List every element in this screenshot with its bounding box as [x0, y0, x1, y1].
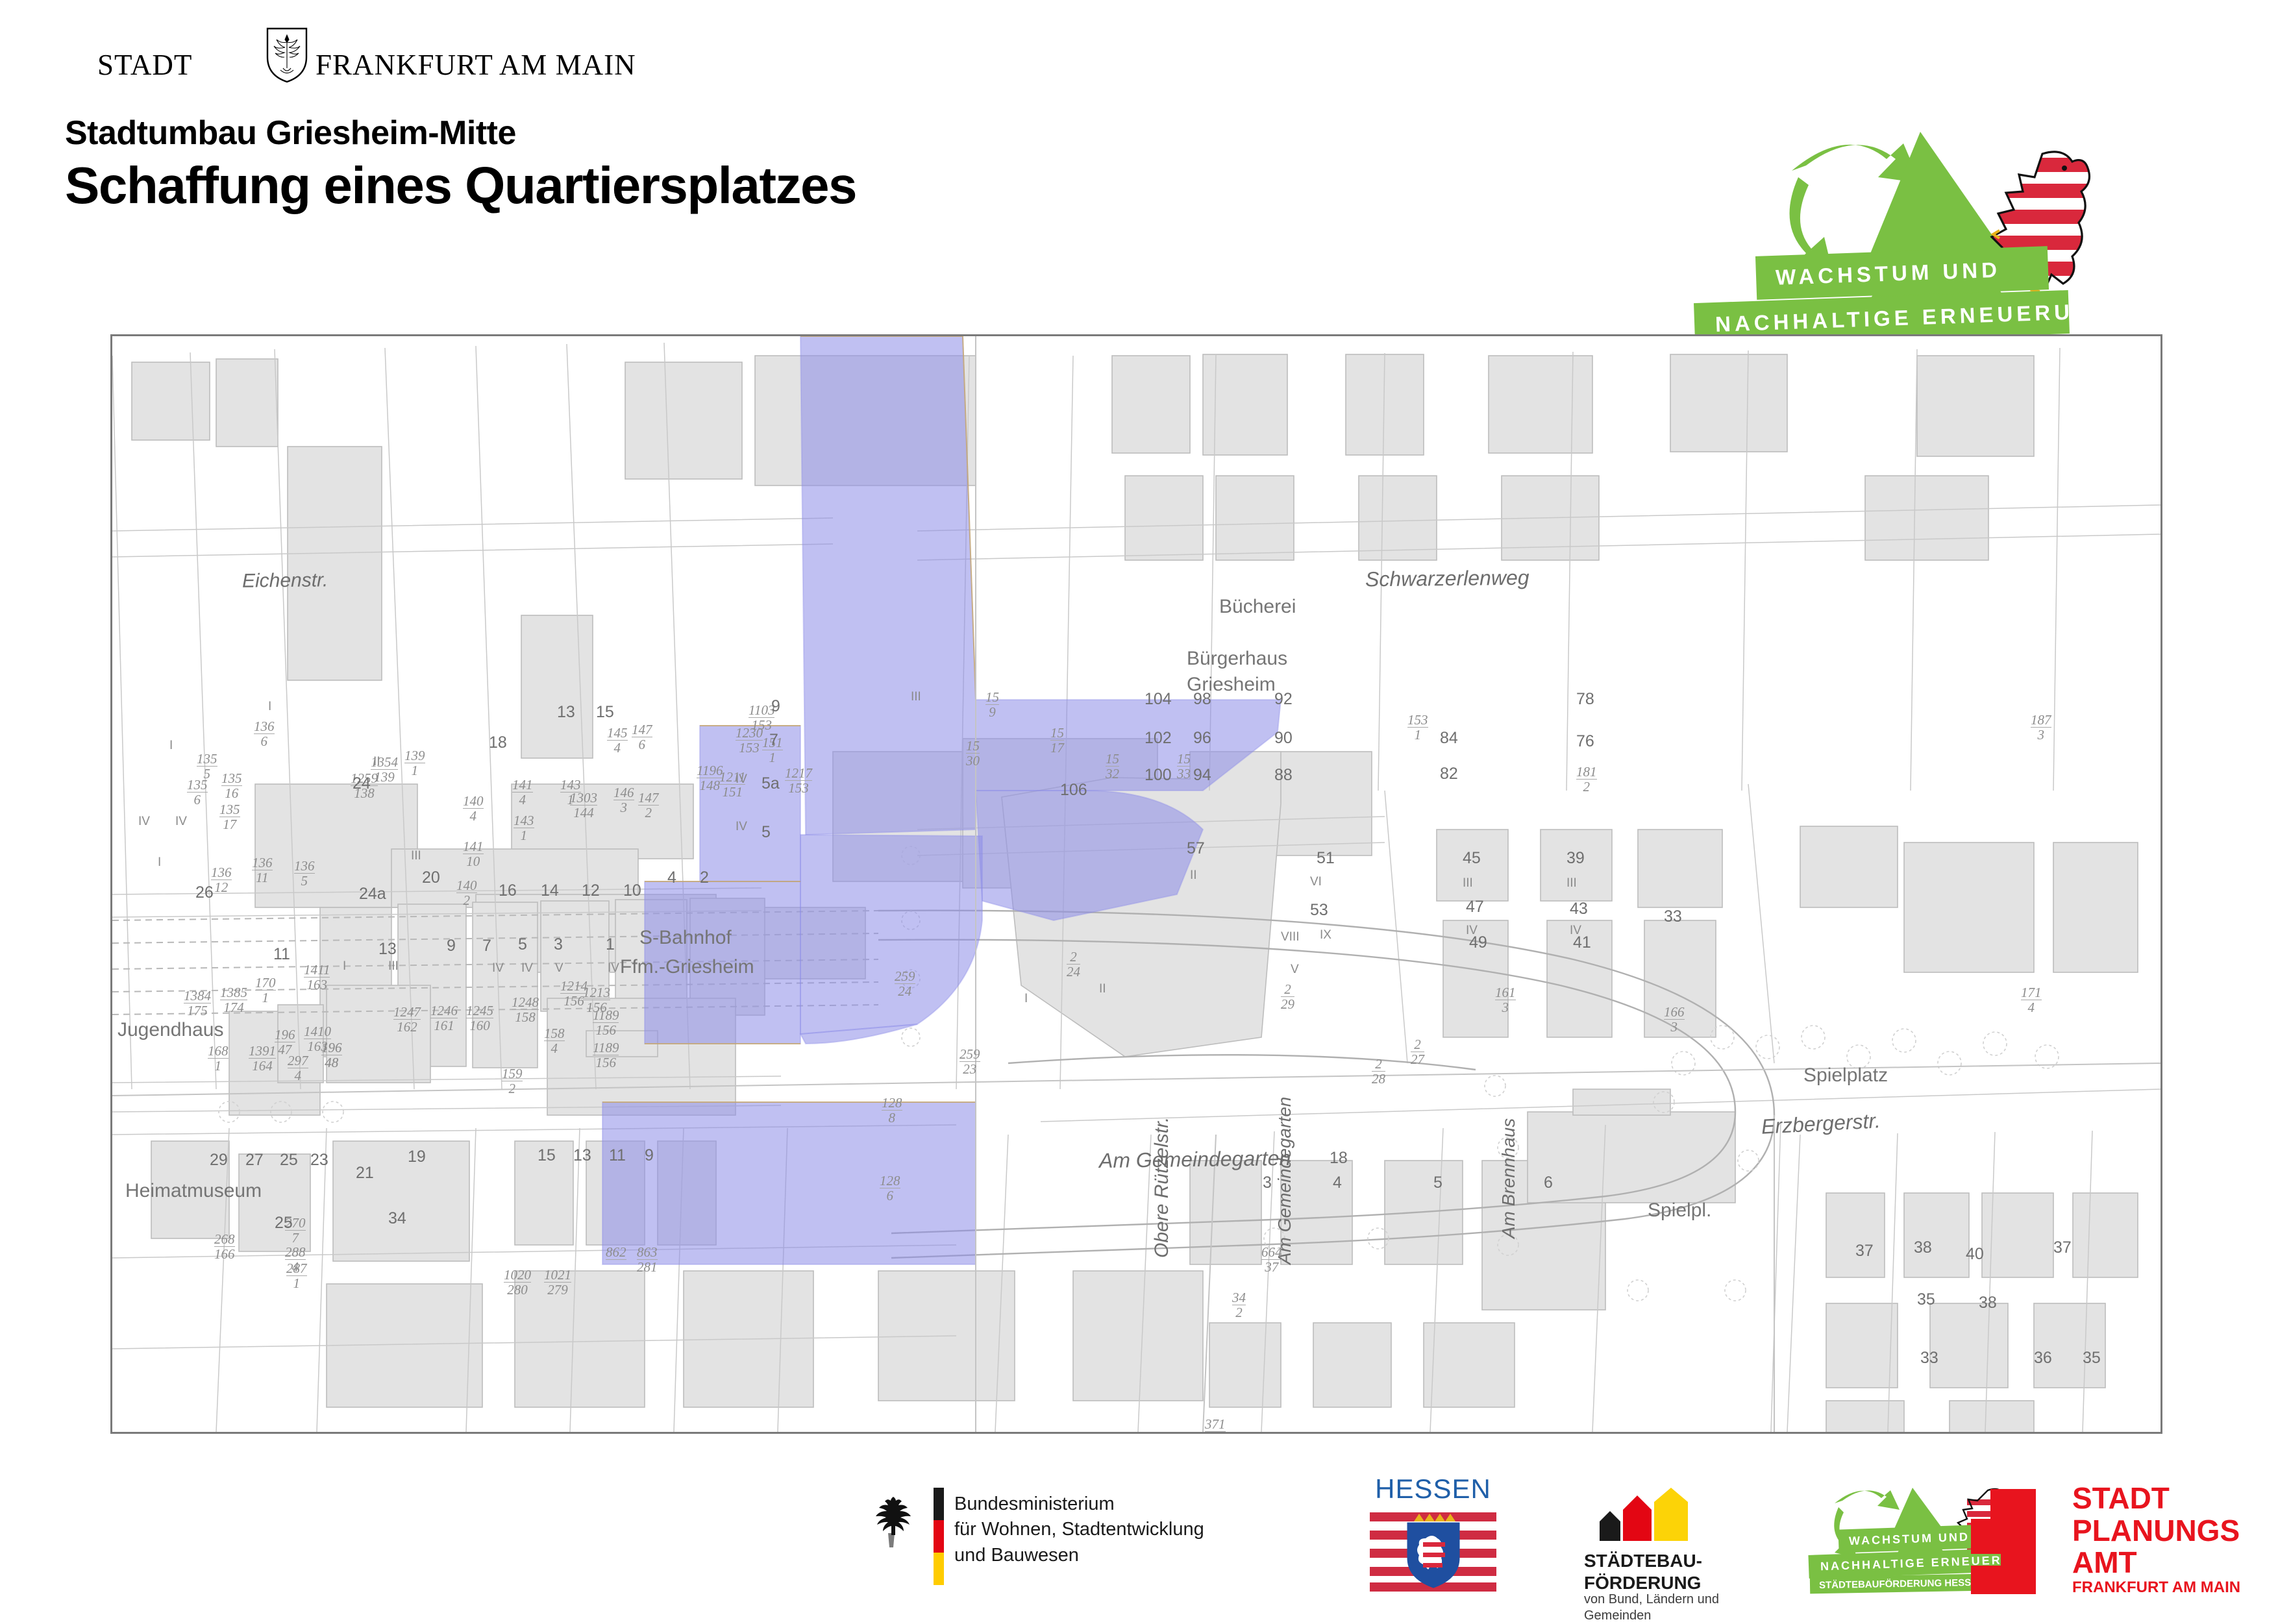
parcel-number: 13612	[211, 865, 232, 894]
storey-level: I	[1024, 992, 1028, 1006]
house-number: 5a	[761, 774, 780, 793]
parcel-number: 1873	[2031, 713, 2051, 742]
house-number: 47	[1466, 898, 1484, 917]
parcel-number: 1663	[1664, 1005, 1685, 1034]
parcel-number: 862	[606, 1245, 626, 1260]
parcel-number: 8836	[1240, 1430, 1261, 1434]
storey-level: I	[268, 700, 271, 714]
house-number: 4	[667, 868, 676, 887]
house-number: 53	[1310, 901, 1328, 920]
parcel-number: 1463	[613, 785, 634, 815]
house-number: 40	[1966, 1245, 1984, 1264]
storey-level: III	[911, 690, 921, 704]
house-number: 14	[541, 881, 559, 900]
storey-level: IV	[1570, 924, 1581, 938]
storey-level: IV	[492, 961, 504, 976]
parcel-number: 13611	[252, 855, 273, 885]
parcel-number: 1214156	[560, 979, 588, 1008]
house-number: 24a	[359, 885, 386, 904]
parcel-number: 1384175	[184, 989, 211, 1018]
house-number: 98	[1193, 690, 1211, 709]
house-number: 34	[388, 1209, 406, 1228]
house-number: 94	[1193, 766, 1211, 785]
house-number: 90	[1274, 729, 1293, 748]
storey-level: III	[1463, 876, 1473, 891]
parcel-number: 863281	[637, 1245, 658, 1274]
parcel-number: 1248158	[512, 995, 539, 1024]
hessen-label: HESSEN	[1370, 1473, 1496, 1505]
parcel-number: 1021279	[544, 1268, 571, 1297]
house-number: 27	[245, 1151, 264, 1170]
house-number: 29	[210, 1151, 228, 1170]
city-logo: STADT FRANKFURT AM MAIN	[97, 34, 513, 86]
parcel-number: 2974	[288, 1053, 308, 1083]
house-number: 11	[273, 945, 290, 964]
storey-level: V	[555, 961, 563, 976]
house-number: 37	[2053, 1238, 2072, 1257]
parcel-number: 1245160	[466, 1003, 493, 1033]
stadtplanung-line3: AMT	[2072, 1547, 2240, 1579]
house-number: 2	[700, 868, 709, 887]
parcel-number: 25923	[959, 1047, 980, 1076]
parcel-number: 1288	[882, 1096, 902, 1125]
parcel-number: 1246161	[430, 1003, 458, 1033]
house-number: 33	[1664, 907, 1682, 926]
storey-level: IV	[736, 772, 747, 787]
parcel-number: 1356	[187, 778, 208, 807]
project-subtitle: Stadtumbau Griesheim-Mitte	[65, 114, 516, 153]
parcel-number: 13516	[221, 771, 242, 800]
house-number: 13	[557, 703, 575, 722]
stadtplanung-line1: STADT	[2072, 1483, 2240, 1515]
house-number: 3	[554, 935, 563, 954]
house-number: 36	[2034, 1349, 2052, 1368]
storey-level: III	[388, 959, 399, 974]
house-number: 6	[1544, 1174, 1553, 1192]
house-number: 33	[1920, 1349, 1938, 1368]
parcel-number: 268166	[214, 1232, 235, 1261]
house-number: 26	[195, 883, 214, 902]
parcel-number: 159	[985, 690, 999, 719]
staedtebau-line2: FÖRDERUNG	[1584, 1572, 1702, 1594]
house-number: 104	[1145, 690, 1172, 709]
stadtplanungsamt-mark-icon	[1954, 1486, 2051, 1597]
house-number: 12	[582, 881, 600, 900]
city-logo-stadt: STADT	[97, 48, 192, 82]
storey-level: II	[373, 755, 380, 769]
house-number: 106	[1060, 781, 1087, 800]
house-number: 25	[275, 1214, 293, 1233]
storey-level: I	[158, 855, 161, 870]
parcel-number: 1230153	[736, 726, 763, 755]
house-number: 57	[1187, 839, 1205, 858]
parcel-number: 1533	[1177, 752, 1191, 781]
parcel-number: 13517	[219, 802, 240, 831]
house-number: 43	[1570, 900, 1588, 918]
parcel-number: 1476	[632, 722, 652, 752]
frankfurt-eagle-crest-icon	[266, 27, 308, 83]
bmwsb-line2: für Wohnen, Stadtentwicklung	[954, 1517, 1204, 1542]
storey-level: IV	[1466, 924, 1478, 938]
parcel-number: 14110	[463, 839, 484, 868]
parcel-number: 1584	[544, 1026, 565, 1055]
house-number: 23	[310, 1151, 328, 1170]
house-number: 38	[1979, 1294, 1997, 1312]
hessen-state-logo: HESSEN	[1370, 1473, 1496, 1592]
storey-level: IV	[175, 815, 187, 829]
storey-level: IV	[521, 961, 533, 976]
house-number: 7	[769, 731, 778, 750]
parcel-number: 1530	[966, 739, 980, 768]
three-houses-icon	[1597, 1488, 1694, 1543]
storey-level: IX	[1320, 928, 1331, 942]
storey-level: VIII	[1281, 930, 1300, 944]
parcel-number: 1532	[1106, 752, 1119, 781]
parcel-number: 1366	[254, 719, 275, 748]
house-number: 35	[1917, 1290, 1935, 1309]
house-number: 45	[1463, 849, 1481, 868]
parcel-number: 1411163	[304, 963, 330, 992]
parcel-number: 1391164	[249, 1044, 276, 1073]
parcel-number: 1592	[502, 1066, 523, 1096]
parcel-number: 66437	[1261, 1245, 1282, 1274]
parcel-number: 227	[1411, 1037, 1424, 1066]
parcel-number: 1286	[880, 1174, 900, 1203]
parcel-number: 2871	[286, 1261, 307, 1290]
parcel-number: 1196148	[697, 763, 723, 793]
stadtplanung-sub: FRANKFURT AM MAIN	[2072, 1579, 2240, 1597]
footer-logos: Bundesministerium für Wohnen, Stadtentwi…	[0, 1468, 2278, 1610]
parcel-number: 1020280	[504, 1268, 531, 1297]
house-number: 21	[356, 1164, 374, 1183]
parcel-number: 1365	[294, 859, 315, 888]
parcel-number: 1402	[456, 878, 477, 907]
storey-level: I	[343, 959, 346, 974]
storey-level: VI	[1310, 875, 1322, 889]
parcel-number: 1812	[1576, 765, 1597, 794]
german-flag-bar-icon	[934, 1488, 944, 1585]
parcel-number: 1189156	[593, 1008, 619, 1037]
storey-level: V	[1291, 963, 1299, 977]
parcel-number: 1531	[1407, 713, 1428, 742]
house-number: 3	[1263, 1174, 1272, 1192]
parcel-number: 228	[1372, 1057, 1385, 1086]
hessen-flag-stripes	[1370, 1508, 1496, 1592]
parcel-number: 1454	[607, 726, 628, 755]
federal-eagle-icon	[863, 1492, 919, 1554]
parcel-number: 1385174	[220, 985, 247, 1015]
house-number: 5	[518, 935, 527, 954]
house-number: 18	[489, 733, 507, 752]
parcel-number: 224	[1067, 950, 1080, 979]
stadtplanung-line2: PLANUNGS	[2072, 1515, 2240, 1547]
house-number: 11	[609, 1146, 626, 1165]
house-number: 82	[1440, 765, 1458, 783]
house-number: 9	[645, 1146, 654, 1165]
house-number: 15	[538, 1146, 556, 1165]
parcel-number: 1517	[1050, 726, 1064, 755]
house-number: 24	[353, 774, 371, 793]
house-number: 9	[771, 697, 780, 716]
parcel-number: 1472	[638, 791, 659, 820]
parcel-number: 1681	[208, 1044, 229, 1073]
storey-level: III	[411, 849, 421, 863]
house-number: 92	[1274, 690, 1293, 709]
staedtebau-sub1: von Bund, Ländern und	[1584, 1592, 1719, 1608]
storey-level: III	[1566, 876, 1577, 891]
cadastral-map[interactable]: Eichenstr. Schwarzerlenweg Erzbergerstr.…	[110, 334, 2162, 1434]
house-number: 102	[1145, 729, 1172, 748]
house-number: 78	[1576, 690, 1594, 709]
page-title: Schaffung eines Quartiersplatzes	[65, 156, 856, 215]
storey-level: IV	[736, 820, 747, 834]
house-number: 51	[1317, 849, 1335, 868]
house-number: 96	[1193, 729, 1211, 748]
parcel-number: 3716	[1205, 1417, 1226, 1434]
bmwsb-line1: Bundesministerium	[954, 1492, 1204, 1517]
house-number: 38	[1914, 1238, 1932, 1257]
house-number: 88	[1274, 766, 1293, 785]
parcel-number: 229	[1281, 982, 1294, 1011]
house-number: 5	[761, 823, 771, 842]
parcel-number: 1714	[2021, 985, 2042, 1015]
parcel-number: 1189156	[593, 1040, 619, 1070]
house-number: 76	[1576, 732, 1594, 751]
parcel-number: 25924	[895, 969, 915, 998]
storey-level: IV	[608, 961, 619, 976]
house-number: 10	[623, 881, 641, 900]
storey-level: IV	[138, 815, 150, 829]
bmwsb-line3: und Bauwesen	[954, 1543, 1204, 1568]
parcel-number: 1414	[512, 778, 533, 807]
parcel-number: 1701	[255, 976, 276, 1005]
parcel-number: 342	[1232, 1290, 1246, 1320]
city-logo-frankfurt: FRANKFURT AM MAIN	[316, 48, 636, 82]
house-number: 25	[280, 1151, 298, 1170]
house-number: 19	[408, 1148, 426, 1166]
parcel-number: 1217153	[785, 766, 812, 795]
house-number: 4	[1333, 1174, 1342, 1192]
house-number: 9	[447, 937, 456, 955]
parcel-number: 1303144	[570, 791, 597, 820]
parcel-number: 1404	[463, 794, 484, 823]
hessen-lion-crest-icon	[1404, 1510, 1463, 1590]
house-number: 15	[596, 703, 614, 722]
storey-level: I	[169, 739, 173, 753]
house-number: 35	[2083, 1349, 2101, 1368]
house-number: 13	[573, 1146, 591, 1165]
storey-level: II	[1099, 982, 1106, 996]
staedtebau-sub2: Gemeinden	[1584, 1608, 1719, 1624]
house-number: 37	[1855, 1242, 1874, 1261]
house-number: 20	[422, 868, 440, 887]
parcel-number: 1247162	[393, 1005, 421, 1034]
house-number: 84	[1440, 729, 1458, 748]
house-number: 39	[1566, 849, 1585, 868]
house-number: 1	[606, 935, 615, 954]
parcel-number: 1391	[404, 748, 425, 778]
house-number: 13	[378, 940, 397, 959]
staedtebau-line1: STÄDTEBAU-	[1584, 1550, 1702, 1572]
parcel-number: 19648	[321, 1040, 342, 1070]
house-number: 7	[482, 937, 491, 955]
parcel-number: 1613	[1495, 985, 1516, 1015]
house-number: 5	[1433, 1174, 1442, 1192]
house-number: 18	[1330, 1149, 1348, 1168]
house-number: 16	[499, 881, 517, 900]
parcel-number: 1431	[514, 813, 534, 843]
map-canvas	[112, 336, 2160, 1432]
house-number: 100	[1145, 766, 1172, 785]
storey-level: II	[1190, 868, 1197, 883]
